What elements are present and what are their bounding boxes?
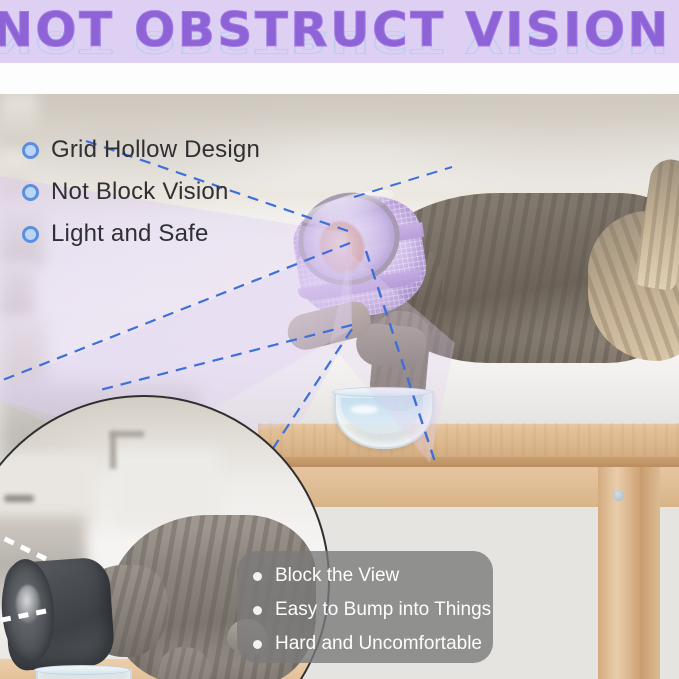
list-item: Hard and Uncomfortable (237, 627, 493, 661)
dot-bullet-icon (253, 572, 262, 581)
ring-bullet-icon (22, 226, 39, 243)
dot-bullet-icon (253, 606, 262, 615)
list-item: Light and Safe (22, 213, 260, 255)
dot-bullet-icon (253, 640, 262, 649)
list-item: Not Block Vision (22, 171, 260, 213)
bowl-highlight (350, 405, 378, 414)
drawbacks-panel: Block the View Easy to Bump into Things … (237, 551, 493, 663)
feature-list: Grid Hollow Design Not Block Vision Ligh… (22, 129, 260, 255)
background-shelf (0, 101, 679, 127)
list-item: Block the View (237, 559, 493, 593)
ring-bullet-icon (22, 184, 39, 201)
background-jar (0, 265, 34, 319)
table-screw (613, 490, 624, 501)
blocked-ray-lower (0, 611, 46, 633)
drawback-label: Hard and Uncomfortable (275, 633, 482, 655)
list-item: Easy to Bump into Things (237, 593, 493, 627)
drawback-label: Block the View (275, 565, 399, 587)
drawback-label: Easy to Bump into Things (275, 599, 491, 621)
table-leg-side (640, 467, 660, 679)
bowl-rim (332, 387, 432, 397)
feature-label: Grid Hollow Design (51, 136, 260, 164)
ring-bullet-icon (22, 142, 39, 159)
background-jar (0, 319, 46, 385)
list-item: Grid Hollow Design (22, 129, 260, 171)
feature-label: Light and Safe (51, 220, 209, 248)
product-infographic: NOT OBSTRUCT VISION NOT OBSTRUCT VISION … (0, 0, 679, 679)
header-white-band (0, 63, 679, 94)
feature-label: Not Block Vision (51, 178, 229, 206)
page-title: NOT OBSTRUCT VISION (0, 0, 679, 64)
blocked-ray-upper (0, 515, 46, 559)
